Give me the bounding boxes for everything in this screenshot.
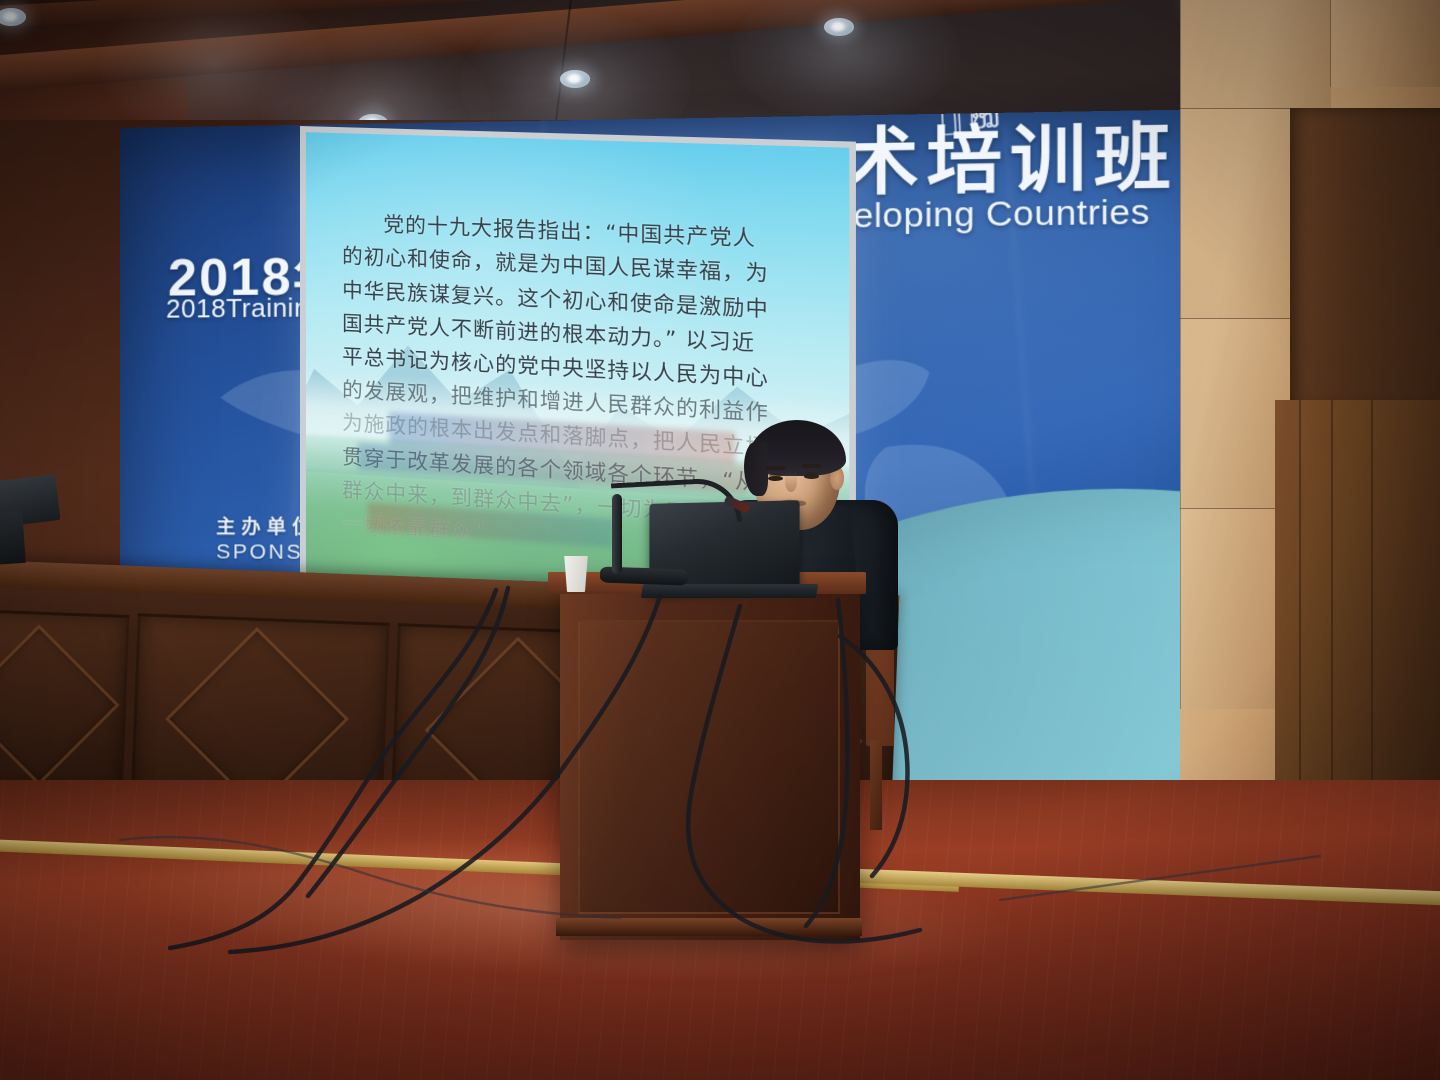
speaker-nose — [785, 472, 797, 492]
speaker-eye-right — [804, 474, 819, 479]
wall-speaker-mount — [0, 511, 26, 565]
laptop-keyboard-base — [641, 584, 818, 598]
wall-panel — [1330, 0, 1440, 87]
podium-front-panel — [578, 620, 840, 914]
door-groove — [1331, 400, 1333, 830]
speaker-brow-right — [802, 464, 821, 468]
door-groove — [1371, 400, 1373, 830]
banner-title-en: eveloping Countries — [814, 192, 1150, 237]
door-groove — [1299, 400, 1301, 830]
speaker-brow-left — [766, 466, 785, 470]
lecture-hall-photo: ຄ຺ໝ 术培训班 eveloping Countries 2018年 2018T… — [0, 0, 1440, 1080]
door-panel — [1275, 400, 1440, 830]
ceiling-downlight-icon — [560, 70, 590, 88]
ceiling-downlight-icon — [824, 18, 854, 36]
wall-recess-upper — [1290, 108, 1440, 408]
speaker-hair-side — [744, 442, 768, 496]
wall-panel — [1180, 0, 1331, 109]
podium-base — [556, 918, 862, 936]
chair-leg — [870, 740, 882, 830]
speaker-eye-left — [768, 476, 783, 481]
